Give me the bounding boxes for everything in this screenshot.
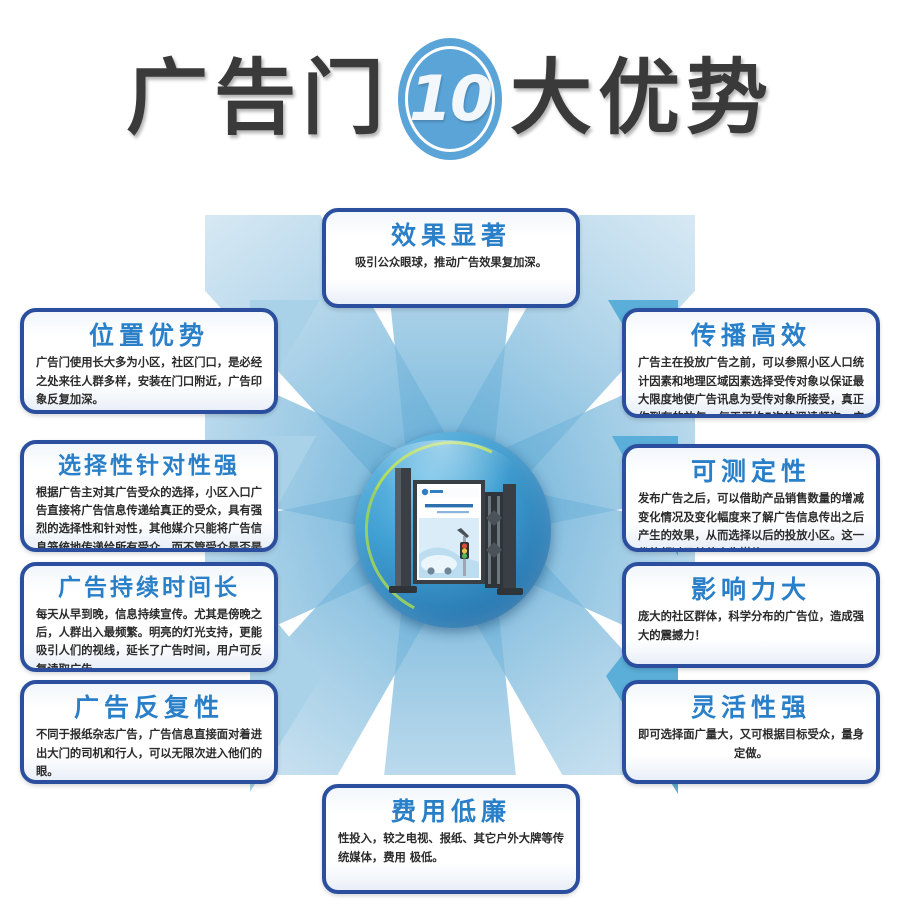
card-right-3[interactable]: 影响力大 庞大的社区群体，科学分布的广告位，造成强大的震撼力！ [622, 562, 880, 668]
card-title: 广告反复性 [36, 692, 262, 723]
card-title: 广告持续时间长 [36, 574, 262, 603]
card-body: 即可选择面广量大，又可根据目标受众，量身定做。 [638, 726, 864, 763]
card-title: 选择性针对性强 [36, 452, 262, 481]
page-title: 广告门 10 大优势 [0, 34, 900, 164]
card-body: 根据广告主对其广告受众的选择，小区入口广告直接将广告信息传递给真正的受众，具有强… [36, 484, 262, 552]
card-title: 效果显著 [338, 220, 564, 251]
card-body: 每天从早到晚，信息持续宣传。尤其是傍晚之后，人群出入最频繁。明亮的灯光支持，更能… [36, 606, 262, 672]
card-body: 广告主在投放广告之前，可以参照小区人口统计因素和地理区域因素选择受传对象以保证最… [638, 354, 864, 418]
title-number-badge: 10 [398, 38, 502, 160]
card-left-2[interactable]: 选择性针对性强 根据广告主对其广告受众的选择，小区入口广告直接将广告信息传递给真… [20, 440, 278, 552]
card-right-1[interactable]: 传播高效 广告主在投放广告之前，可以参照小区人口统计因素和地理区域因素选择受传对… [622, 308, 880, 418]
card-title: 传播高效 [638, 320, 864, 351]
title-right-text: 大优势 [510, 58, 774, 140]
badge-number: 10 [409, 68, 491, 130]
title-left-text: 广告门 [126, 58, 390, 140]
card-left-4[interactable]: 广告反复性 不同于报纸杂志广告，广告信息直接面对着进出大门的司机和行人，可以无限… [20, 680, 278, 784]
card-title: 可测定性 [638, 456, 864, 487]
infographic-page: 广告门 10 大优势 [0, 0, 900, 924]
card-right-4[interactable]: 灵活性强 即可选择面广量大，又可根据目标受众，量身定做。 [622, 680, 880, 784]
card-title: 灵活性强 [638, 692, 864, 723]
card-body: 发布广告之后，可以借助产品销售数量的增减变化情况及变化幅度来了解广告信息传出之后… [638, 490, 864, 552]
card-title: 位置优势 [36, 320, 262, 351]
card-title: 影响力大 [638, 574, 864, 605]
card-top-center[interactable]: 效果显著 吸引公众眼球，推动广告效果复加深。 [322, 208, 580, 308]
card-bottom-center[interactable]: 费用低廉 性投入，较之电视、报纸、其它户外大牌等传统媒体，费用 极低。 [322, 784, 580, 894]
card-body: 庞大的社区群体，科学分布的广告位，造成强大的震撼力！ [638, 608, 864, 645]
card-right-2[interactable]: 可测定性 发布广告之后，可以借助产品销售数量的增减变化情况及变化幅度来了解广告信… [622, 444, 880, 552]
card-body: 性投入，较之电视、报纸、其它户外大牌等传统媒体，费用 极低。 [338, 830, 564, 867]
card-body: 不同于报纸杂志广告，广告信息直接面对着进出大门的司机和行人，可以无限次进入他们的… [36, 726, 262, 781]
card-title: 费用低廉 [338, 796, 564, 827]
card-body: 吸引公众眼球，推动广告效果复加深。 [338, 254, 564, 272]
card-left-1[interactable]: 位置优势 广告门使用长大多为小区，社区门口，是必经之处来往人群多样，安装在门口附… [20, 308, 278, 414]
center-product-badge [355, 432, 551, 628]
card-left-3[interactable]: 广告持续时间长 每天从早到晚，信息持续宣传。尤其是傍晚之后，人群出入最频繁。明亮… [20, 562, 278, 672]
card-body: 广告门使用长大多为小区，社区门口，是必经之处来往人群多样，安装在门口附近，广告印… [36, 354, 262, 409]
product-illustration [387, 458, 523, 604]
